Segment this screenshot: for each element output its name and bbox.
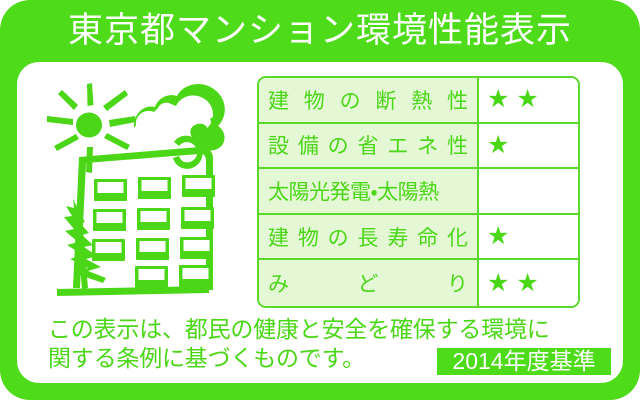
- row-label-solar: 太陽光発電・太陽熱: [259, 169, 479, 213]
- body-panel: 建 物 の 断 熱 性 ★ ★ 設 備 の 省 エ: [17, 62, 623, 383]
- star-icon: ★: [487, 271, 509, 296]
- label-char: 命: [417, 222, 438, 252]
- label-char: 建: [268, 222, 289, 252]
- window-row-4: [135, 265, 212, 288]
- table-row: み ど り ★ ★: [259, 260, 578, 306]
- label-char: 性: [447, 85, 468, 115]
- header-band: 東京都マンション環境性能表示: [0, 0, 640, 62]
- eco-building-illustration: [33, 76, 265, 311]
- label-char: 寿: [387, 222, 408, 252]
- star-icon: ★: [516, 271, 538, 296]
- label-char: 建: [268, 85, 289, 115]
- rating-stars-greenery: ★ ★: [479, 260, 578, 306]
- label-char: 設: [268, 130, 289, 160]
- table-row: 建 物 の 長 寿 命 化 ★: [259, 215, 578, 261]
- label-char: 物: [304, 85, 325, 115]
- row-label-insulation: 建 物 の 断 熱 性: [259, 78, 479, 122]
- window-row-3: [92, 237, 213, 261]
- label-char: 省: [357, 130, 378, 160]
- star-icon: ★: [487, 224, 509, 249]
- label-char: 熱: [411, 85, 432, 115]
- environmental-performance-label: 東京都マンション環境性能表示: [0, 0, 640, 400]
- table-row: 設 備 の 省 エ ネ 性 ★: [259, 124, 578, 170]
- rating-stars-longevity: ★: [479, 215, 578, 259]
- standard-year-badge: 2014年度基準: [437, 348, 611, 375]
- disclaimer-line-1: この表示は、都民の健康と安全を確保する環境に: [48, 316, 550, 342]
- performance-table: 建 物 の 断 熱 性 ★ ★ 設 備 の 省 エ: [257, 76, 580, 308]
- row-label-energy-saving: 設 備 の 省 エ ネ 性: [259, 124, 479, 168]
- rating-stars-energy-saving: ★: [479, 124, 578, 168]
- label-char: 物: [298, 222, 319, 252]
- label-char: 長: [357, 222, 378, 252]
- rating-stars-insulation: ★ ★: [479, 78, 578, 122]
- window-row-1: [94, 175, 215, 201]
- star-icon: ★: [487, 87, 509, 112]
- label-char: 備: [298, 130, 319, 160]
- label-char: り: [447, 268, 468, 298]
- table-row: 建 物 の 断 熱 性 ★ ★: [259, 78, 578, 124]
- label-char: ど: [358, 268, 379, 298]
- star-icon: ★: [487, 133, 509, 158]
- label-char: の: [328, 130, 349, 160]
- label-char: 化: [447, 222, 468, 252]
- label-char: エ: [387, 130, 408, 160]
- rating-stars-solar: [479, 169, 578, 213]
- label-char: 性: [447, 130, 468, 160]
- label-char: み: [268, 268, 289, 298]
- window-row-2: [93, 207, 214, 231]
- label-char: の: [340, 85, 361, 115]
- table-row: 太陽光発電・太陽熱: [259, 169, 578, 215]
- page-title: 東京都マンション環境性能表示: [68, 13, 572, 48]
- footer-area: この表示は、都民の健康と安全を確保する環境に 関する条例に基づくものです。 20…: [17, 312, 623, 383]
- label-char: 断: [375, 85, 396, 115]
- label-char: ネ: [417, 130, 438, 160]
- row-label-longevity: 建 物 の 長 寿 命 化: [259, 215, 479, 259]
- row-label-greenery: み ど り: [259, 260, 479, 306]
- star-icon: ★: [516, 87, 538, 112]
- label-char: の: [328, 222, 349, 252]
